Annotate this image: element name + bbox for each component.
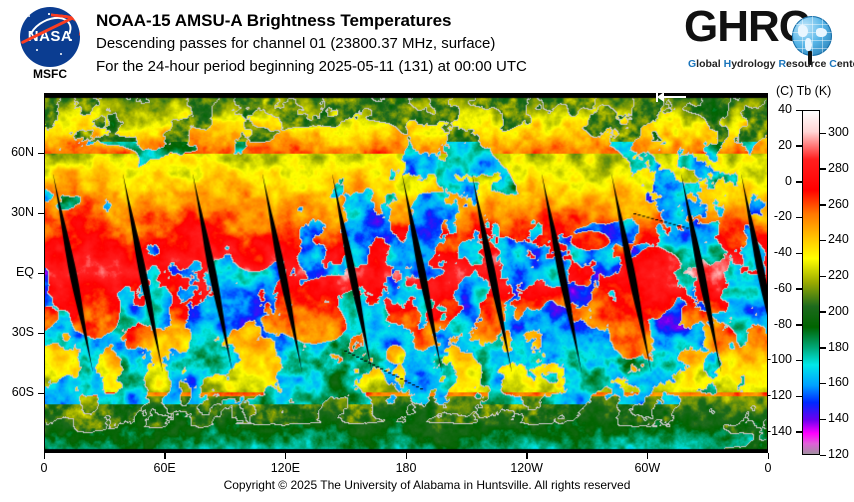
colorbar-tick-kelvin: [820, 133, 826, 135]
left-arrow-marker-icon: [655, 90, 687, 102]
colorbar-tick-celsius: [796, 110, 802, 112]
colorbar-label-celsius: -80: [758, 317, 792, 331]
subtitle-channel: Descending passes for channel 01 (23800.…: [96, 32, 527, 55]
colorbar-label-celsius: -140: [758, 424, 792, 438]
lat-label: 30S: [0, 325, 34, 339]
colorbar-label-celsius: -100: [758, 352, 792, 366]
lat-label: 60N: [0, 145, 34, 159]
colorbar-tick-celsius: [796, 217, 802, 219]
colorbar-tick-celsius: [796, 324, 802, 326]
colorbar-label-celsius: -60: [758, 281, 792, 295]
colorbar-tick-celsius: [796, 145, 802, 147]
colorbar-label-kelvin: 120: [828, 447, 854, 461]
lon-label: 120W: [504, 461, 550, 475]
colorbar-header: (C) Tb (K): [776, 84, 831, 98]
colorbar-tick-celsius: [796, 288, 802, 290]
colorbar-label-kelvin: 300: [828, 125, 854, 139]
map-raster: [45, 94, 767, 452]
colorbar-tick-kelvin: [820, 204, 826, 206]
colorbar-tick-celsius: [796, 431, 802, 433]
lat-tick: [38, 393, 44, 395]
colorbar-tick-kelvin: [820, 168, 826, 170]
lat-tick: [38, 273, 44, 275]
colorbar-label-celsius: -40: [758, 245, 792, 259]
colorbar-label-celsius: 40: [758, 102, 792, 116]
colorbar-label-kelvin: 280: [828, 161, 854, 175]
colorbar-label-kelvin: 220: [828, 268, 854, 282]
colorbar-label-celsius: -20: [758, 209, 792, 223]
colorbar-label-kelvin: 200: [828, 304, 854, 318]
lon-tick: [768, 453, 770, 459]
lon-tick: [406, 453, 408, 459]
colorbar-label-celsius: 20: [758, 138, 792, 152]
title-block: NOAA-15 AMSU-A Brightness Temperatures D…: [96, 10, 527, 78]
lon-label: 180: [383, 461, 429, 475]
ghrc-wordmark: GHRC: [684, 4, 810, 50]
colorbar-tick-celsius: [796, 181, 802, 183]
lat-tick: [38, 213, 44, 215]
lat-label: EQ: [0, 265, 34, 279]
ghrc-tagline: Global Hydrology Resource Center: [688, 58, 854, 70]
lon-tick: [164, 453, 166, 459]
lon-label: 60W: [624, 461, 670, 475]
lat-tick: [38, 333, 44, 335]
colorbar-label-kelvin: 140: [828, 411, 854, 425]
lon-tick: [526, 453, 528, 459]
colorbar-tick-kelvin: [820, 419, 826, 421]
colorbar-tick-kelvin: [820, 455, 826, 457]
globe-icon: [792, 16, 832, 56]
lon-label: 0: [745, 461, 791, 475]
colorbar-label-kelvin: 160: [828, 375, 854, 389]
subtitle-period: For the 24-hour period beginning 2025-05…: [96, 55, 527, 78]
lon-tick: [44, 453, 46, 459]
colorbar-tick-kelvin: [820, 240, 826, 242]
nasa-center-label: MSFC: [14, 67, 86, 81]
colorbar-tick-celsius: [796, 253, 802, 255]
nasa-meatball-icon: NASA: [20, 7, 80, 67]
colorbar-label-kelvin: 180: [828, 340, 854, 354]
colorbar-tick-celsius: [796, 360, 802, 362]
colorbar-tick-kelvin: [820, 383, 826, 385]
lon-tick: [285, 453, 287, 459]
colorbar-tick-celsius: [796, 396, 802, 398]
brightness-temperature-map[interactable]: [44, 93, 768, 453]
colorbar-tick-kelvin: [820, 347, 826, 349]
colorbar-tick-kelvin: [820, 311, 826, 313]
lon-tick: [647, 453, 649, 459]
page-title: NOAA-15 AMSU-A Brightness Temperatures: [96, 10, 527, 32]
colorbar-label-kelvin: 240: [828, 232, 854, 246]
colorbar: [802, 110, 820, 455]
colorbar-label-celsius: -120: [758, 388, 792, 402]
lon-label: 0: [21, 461, 67, 475]
colorbar-tick-kelvin: [820, 276, 826, 278]
lon-label: 60E: [142, 461, 188, 475]
copyright-notice: Copyright © 2025 The University of Alaba…: [0, 478, 854, 492]
lat-tick: [38, 153, 44, 155]
lat-label: 30N: [0, 205, 34, 219]
colorbar-label-celsius: 0: [758, 174, 792, 188]
nasa-logo: NASA MSFC: [14, 7, 86, 81]
ghrc-logo: GHRC Global Hydrology Resource Center: [684, 6, 844, 76]
lon-label: 120E: [262, 461, 308, 475]
colorbar-label-kelvin: 260: [828, 197, 854, 211]
lat-label: 60S: [0, 385, 34, 399]
